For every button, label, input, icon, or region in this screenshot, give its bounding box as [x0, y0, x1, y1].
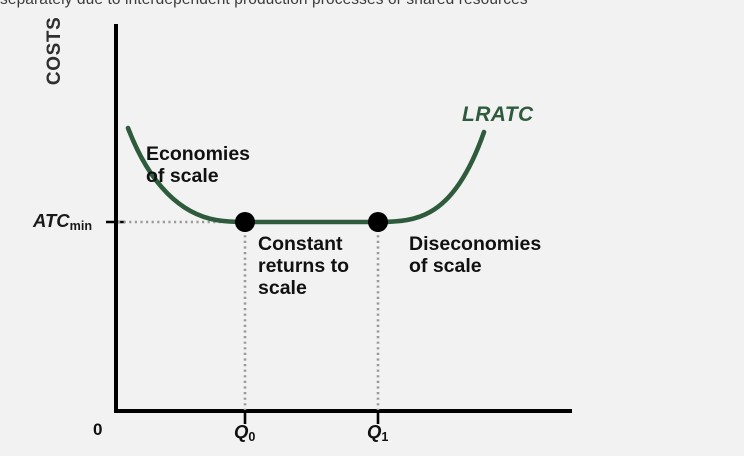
- q0-base: Q: [234, 421, 248, 442]
- chart-canvas: [0, 0, 744, 456]
- diseconomies-of-scale-annotation: Diseconomies of scale: [409, 233, 599, 277]
- atc-min-axis-label: ATCmin: [33, 210, 92, 231]
- q1-marker-dot: [368, 212, 388, 232]
- constant-returns-annotation: Constant returns to scale: [258, 233, 388, 300]
- constant-line-1: Constant: [258, 233, 343, 255]
- atc-min-base: ATC: [33, 210, 70, 231]
- q1-base: Q: [367, 421, 381, 442]
- constant-line-2: returns to: [258, 255, 349, 277]
- q1-axis-label: Q1: [367, 421, 388, 442]
- q0-axis-label: Q0: [234, 421, 255, 442]
- lratc-curve-label: LRATC: [462, 103, 534, 127]
- economies-line-1: Economies: [146, 143, 250, 165]
- diseconomies-line-2: of scale: [409, 255, 482, 277]
- lratc-cost-curve-figure: separately due to interdependent product…: [0, 0, 744, 456]
- q0-subscript: 0: [248, 430, 255, 444]
- diseconomies-line-1: Diseconomies: [409, 233, 541, 255]
- economies-of-scale-annotation: Economies of scale: [146, 143, 296, 187]
- constant-line-3: scale: [258, 277, 307, 299]
- q0-marker-dot: [235, 212, 255, 232]
- q1-subscript: 1: [381, 430, 388, 444]
- y-axis-title: COSTS: [44, 0, 66, 111]
- economies-line-2: of scale: [146, 165, 219, 187]
- origin-label: 0: [93, 420, 102, 439]
- atc-min-subscript: min: [70, 219, 92, 233]
